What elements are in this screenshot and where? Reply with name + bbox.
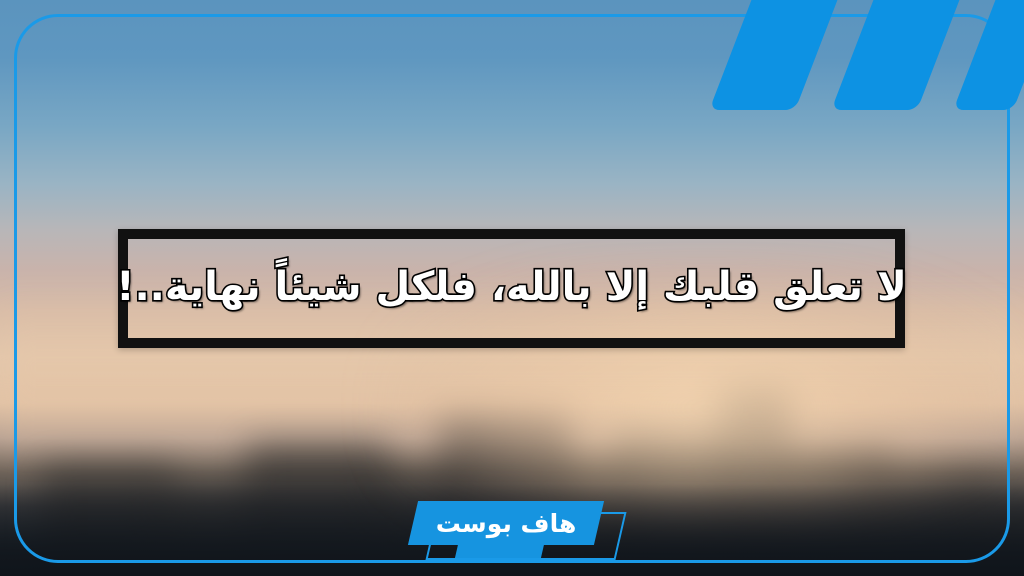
slash-shape-1 bbox=[709, 0, 853, 110]
top-right-slash-decoration bbox=[700, 0, 1024, 120]
poster-canvas: لا تعلق قلبك إلا بالله، فلكل شيئاً نهاية… bbox=[0, 0, 1024, 576]
slash-shape-3 bbox=[953, 0, 1024, 110]
brand-name-label: هاف بوست bbox=[413, 501, 599, 545]
quote-text: لا تعلق قلبك إلا بالله، فلكل شيئاً نهاية… bbox=[116, 264, 907, 314]
quote-box: لا تعلق قلبك إلا بالله، فلكل شيئاً نهاية… bbox=[118, 229, 905, 348]
brand-watermark: هاف بوست bbox=[397, 496, 627, 562]
slash-shape-2 bbox=[831, 0, 975, 110]
